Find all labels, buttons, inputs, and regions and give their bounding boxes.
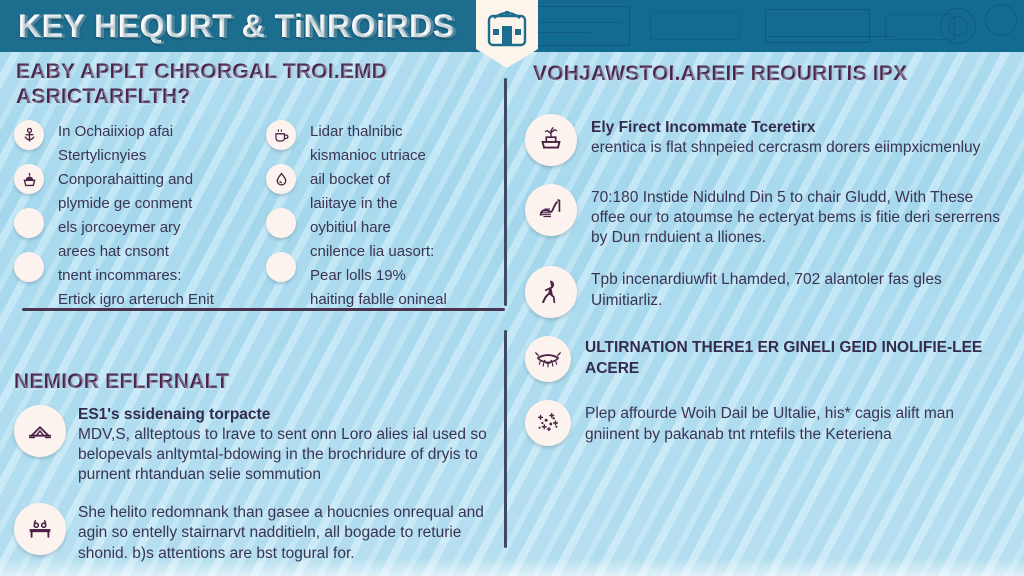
left-column-heading-text: EABY APPLT CHRORGAL TROI.EMD ASRICTARFLT… [16,60,387,108]
list-item-content: Ely Firect Incommate Tceretirx erentica … [591,114,1011,158]
cupcake-icon[interactable] [14,164,44,194]
deco-rect-2 [650,12,740,40]
list-item-body: erentica is flat shnpeied cercrasm dorer… [591,139,980,156]
list-item-content: Plep affourde Woih Dail be Ultalie, his*… [585,400,1005,444]
right-item-list: Ely Firect Incommate Tceretirx erentica … [525,114,1020,464]
bullet-line: els jorcoeymer ary [58,216,252,240]
left-column-heading: EABY APPLT CHRORGAL TROI.EMD ASRICTARFLT… [16,60,486,110]
left-lower-heading-text: NEMIOR EFLFRNALT [14,370,229,393]
list-item[interactable]: ES1's ssidenaing torpacte MDV,S, alltept… [14,405,504,486]
eye-icon[interactable] [525,336,571,382]
list-item[interactable]: Plep affourde Woih Dail be Ultalie, his*… [525,400,1020,446]
bullet-line: ail bocket of [310,168,504,192]
building-emblem-icon [486,0,528,47]
list-item-body: MDV,S, allteptous to lrave to sent onn L… [78,426,487,483]
sparkle-cluster-icon[interactable] [525,400,571,446]
list-item-content: Tpb incenardiuwfit Lhamded, 702 alantole… [591,266,1011,310]
bullet-group-1-lines: In Ochaiixiop afai Stertylicnyies Conpor… [58,120,252,312]
left-bullet-groups: In Ochaiixiop afai Stertylicnyies Conpor… [14,120,504,312]
bullet-line: kismanioc utriace [310,144,504,168]
blank-circle-icon[interactable] [14,208,44,238]
tent-icon[interactable] [14,405,66,457]
coffee-cup-icon[interactable] [266,120,296,150]
list-item[interactable]: Tpb incenardiuwfit Lhamded, 702 alantole… [525,266,1020,318]
left-lower-section: NEMIOR EFLFRNALT NEMIOR EFLFRNALT ES1's … [14,370,504,564]
right-column: VOHJAWSTOI.AREIF REOURITIS IPX VOHJAWSTO… [505,52,1024,576]
list-item-title: Ely Firect Incommate Tceretirx [591,119,816,136]
anchor-icon[interactable] [14,120,44,150]
list-item-body: Tpb incenardiuwfit Lhamded, 702 alantole… [591,271,942,308]
bullet-group-1-icons [14,120,46,282]
deco-rect-3 [765,9,870,43]
infographic-poster: KEY HEQURT & TiNROiRDS KEY HEQURT & TiNR… [0,0,1024,576]
blank-circle-icon[interactable] [14,252,44,282]
list-item[interactable]: 70:180 Instide Nidulnd Din 5 to chair Gl… [525,184,1020,248]
right-column-heading: VOHJAWSTOI.AREIF REOURITIS IPX VOHJAWSTO… [533,62,1003,87]
horizontal-divider [22,308,505,311]
right-column-heading-text: VOHJAWSTOI.AREIF REOURITIS IPX [533,62,907,85]
list-item-body: 70:180 Instide Nidulnd Din 5 to chair Gl… [591,189,1000,246]
bullet-line: plymide ge conment [58,192,252,216]
list-item-title: ES1's ssidenaing torpacte [78,406,270,423]
poster-title: KEY HEQURT & TiNROiRDS KEY HEQURT & TiNR… [18,0,455,52]
list-item-body: Plep affourde Woih Dail be Ultalie, his*… [585,405,954,442]
droplet-icon[interactable] [266,164,296,194]
bullet-group-2-lines: Lidar thalnibic kismanioc utriace ail bo… [310,120,504,312]
bullet-line: arees hat cnsont [58,240,252,264]
bullet-line: laiitaye in the [310,192,504,216]
plant-pot-icon[interactable] [525,114,577,166]
vertical-divider-bottom [504,330,507,548]
walking-person-icon[interactable] [525,266,577,318]
list-item-content: ULTIRNATION THERE1 ER GINELI GEID INOLIF… [585,336,1005,378]
deco-circle-3 [985,4,1017,36]
bullet-line: Conporahaitting and [58,168,252,192]
list-item[interactable]: Ely Firect Incommate Tceretirx erentica … [525,114,1020,166]
blank-circle-icon[interactable] [266,252,296,282]
blank-circle-icon[interactable] [266,208,296,238]
bullet-line: Stertylicnyies [58,144,252,168]
list-item-title: ULTIRNATION THERE1 ER GINELI GEID INOLIF… [585,339,982,376]
bullet-line: In Ochaiixiop afai [58,120,252,144]
bullet-line: oybitiul hare [310,216,504,240]
left-column: EABY APPLT CHRORGAL TROI.EMD ASRICTARFLT… [0,52,505,576]
list-item[interactable]: She helito redomnank than gasee a houcni… [14,503,504,563]
list-item-content: She helito redomnank than gasee a houcni… [78,503,496,563]
deco-circle-2 [948,16,968,36]
bullet-group-2: Lidar thalnibic kismanioc utriace ail bo… [266,120,504,312]
list-item-content: 70:180 Instide Nidulnd Din 5 to chair Gl… [591,184,1011,248]
scribble-wave-icon[interactable] [525,184,577,236]
vertical-divider-top [504,78,507,306]
bullet-group-2-icons [266,120,298,282]
list-item-body: She helito redomnank than gasee a houcni… [78,504,484,561]
bullet-line: cnilence lia uasort: [310,240,504,264]
list-item[interactable]: ULTIRNATION THERE1 ER GINELI GEID INOLIF… [525,336,1020,382]
bullet-line: tnent incommares: [58,264,252,288]
left-lower-heading: NEMIOR EFLFRNALT NEMIOR EFLFRNALT [14,370,504,395]
header-decorative-band [480,0,1024,52]
bullet-line: Pear lolls 19% [310,264,504,288]
bullet-line: Lidar thalnibic [310,120,504,144]
deco-line-3 [765,36,895,37]
poster-title-text: KEY HEQURT & TiNROiRDS [18,8,455,45]
table-icon[interactable] [14,503,66,555]
list-item-content: ES1's ssidenaing torpacte MDV,S, alltept… [78,405,496,486]
bullet-group-1: In Ochaiixiop afai Stertylicnyies Conpor… [14,120,252,312]
